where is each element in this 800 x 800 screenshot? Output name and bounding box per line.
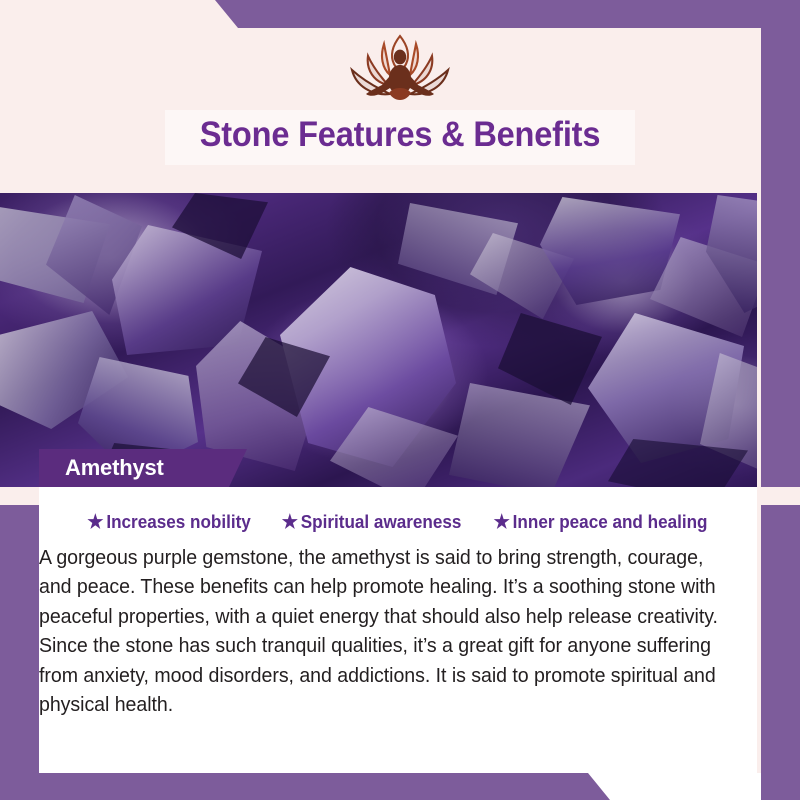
lotus-meditation-figure-icon — [344, 30, 456, 112]
benefit-item: ★ Spiritual awareness — [282, 512, 462, 533]
content-card: ★ Increases nobility ★ Spiritual awarene… — [39, 487, 757, 773]
benefit-item: ★ Inner peace and healing — [494, 512, 708, 533]
star-icon: ★ — [282, 513, 298, 532]
star-icon: ★ — [494, 513, 510, 532]
stone-description: A gorgeous purple gemstone, the amethyst… — [39, 544, 728, 720]
benefit-label: Inner peace and healing — [513, 512, 708, 533]
benefit-label: Increases nobility — [106, 512, 250, 533]
star-icon: ★ — [87, 513, 103, 532]
benefit-label: Spiritual awareness — [301, 512, 462, 533]
stone-features-infographic: BUDDHA STONES Stone Features & Benefits … — [0, 0, 800, 800]
benefits-list: ★ Increases nobility ★ Spiritual awarene… — [39, 512, 757, 533]
benefit-item: ★ Increases nobility — [87, 512, 251, 533]
amethyst-crystal-photo — [0, 193, 800, 487]
bottom-purple-band — [0, 773, 800, 800]
left-purple-edge — [0, 487, 39, 800]
page-title: Stone Features & Benefits — [28, 108, 772, 162]
stone-name-ribbon: Amethyst — [39, 449, 247, 487]
stone-name-label: Amethyst — [65, 455, 164, 481]
